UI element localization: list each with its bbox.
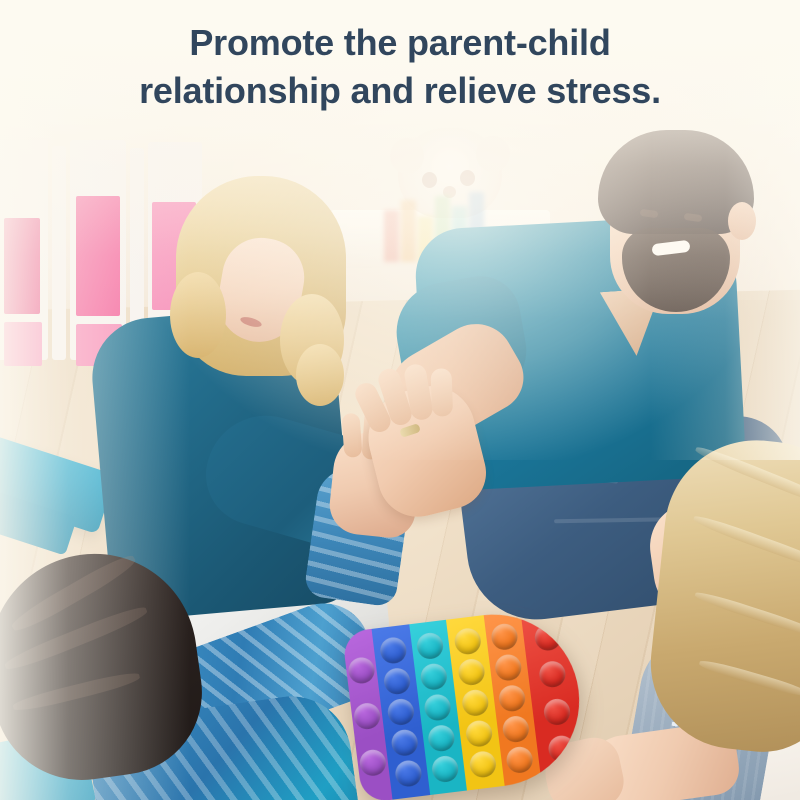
popit-bubble[interactable] [416,631,445,660]
person-child-right [598,440,800,800]
girl-hair-strand-2 [692,512,800,573]
lifestyle-photo [0,0,800,800]
girl-hair-strand-1 [694,443,800,510]
father-head [588,130,764,326]
popit-bubble[interactable] [347,655,376,684]
popit-bubble[interactable] [505,745,534,774]
popit-bubble[interactable] [427,724,456,753]
popit-bubble[interactable] [431,754,460,783]
popit-bubble[interactable] [386,698,415,727]
popit-fidget-toy[interactable] [342,605,590,800]
popit-bubble[interactable] [394,759,423,788]
popit-bubble[interactable] [457,658,486,687]
mother-head [176,176,346,376]
popit-bubble[interactable] [547,734,576,763]
popit-bubble[interactable] [542,697,571,726]
popit-bubble[interactable] [464,719,493,748]
dollhouse-panel [52,146,66,360]
father-ear [728,202,756,240]
product-banner: Promote the parent-child relationship an… [0,0,800,800]
girl-hair-strand-4 [698,658,800,699]
popit-bubble[interactable] [453,627,482,656]
girl-hair-strand-3 [693,589,800,640]
girl-hair [642,431,800,759]
popit-bubble[interactable] [502,715,531,744]
rainbow-block [401,200,416,262]
popit-bubble[interactable] [382,667,411,696]
mother-hair-curl-left [170,272,226,358]
dollhouse-pink-panel [4,322,42,366]
popit-bubble[interactable] [461,688,490,717]
child-finger-1 [341,413,362,458]
popit-bubble[interactable] [379,636,408,665]
mother-hair-curl-lower [296,344,344,406]
dollhouse-pink-panel [4,218,40,314]
plush-ear-left [390,138,424,174]
popit-bubble[interactable] [390,728,419,757]
popit-bubble[interactable] [538,660,567,689]
popit-bubble[interactable] [423,693,452,722]
popit-bubble[interactable] [490,622,519,651]
popit-bubble[interactable] [494,653,523,682]
popit-body [342,605,589,800]
popit-bubble[interactable] [420,662,449,691]
father-finger-4 [430,368,453,417]
popit-bubble[interactable] [358,748,387,777]
popit-bubble[interactable] [498,684,527,713]
popit-bubble[interactable] [353,702,382,731]
popit-bubble[interactable] [468,750,497,779]
child-hair-strand-3 [12,669,142,714]
popit-bubble[interactable] [533,623,562,652]
